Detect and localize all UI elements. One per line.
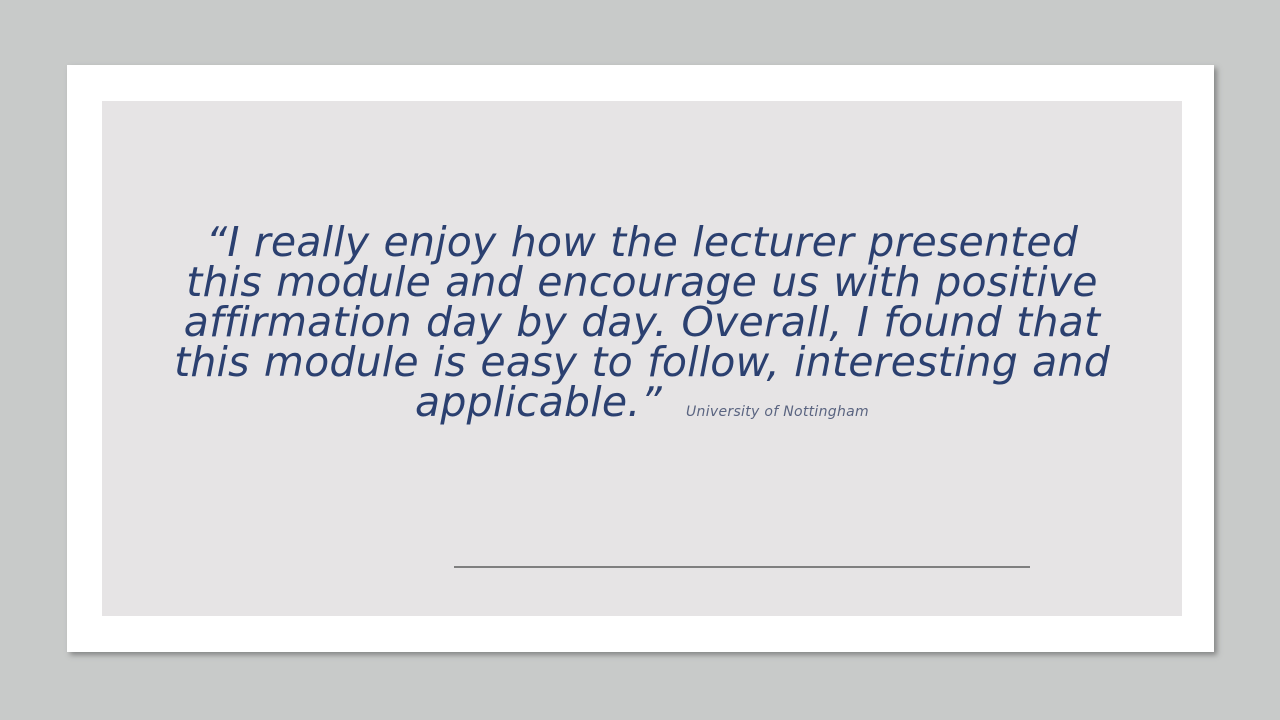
quote-attribution: University of Nottingham: [662, 404, 869, 420]
slide-content-panel: “I really enjoy how the lecturer present…: [102, 101, 1182, 616]
horizontal-divider: [454, 566, 1030, 568]
slide-card: “I really enjoy how the lecturer present…: [67, 65, 1214, 652]
slide-stage: “I really enjoy how the lecturer present…: [0, 0, 1280, 720]
quote-text: “I really enjoy how the lecturer present…: [174, 218, 1124, 426]
testimonial-quote-block: “I really enjoy how the lecturer present…: [162, 222, 1122, 422]
